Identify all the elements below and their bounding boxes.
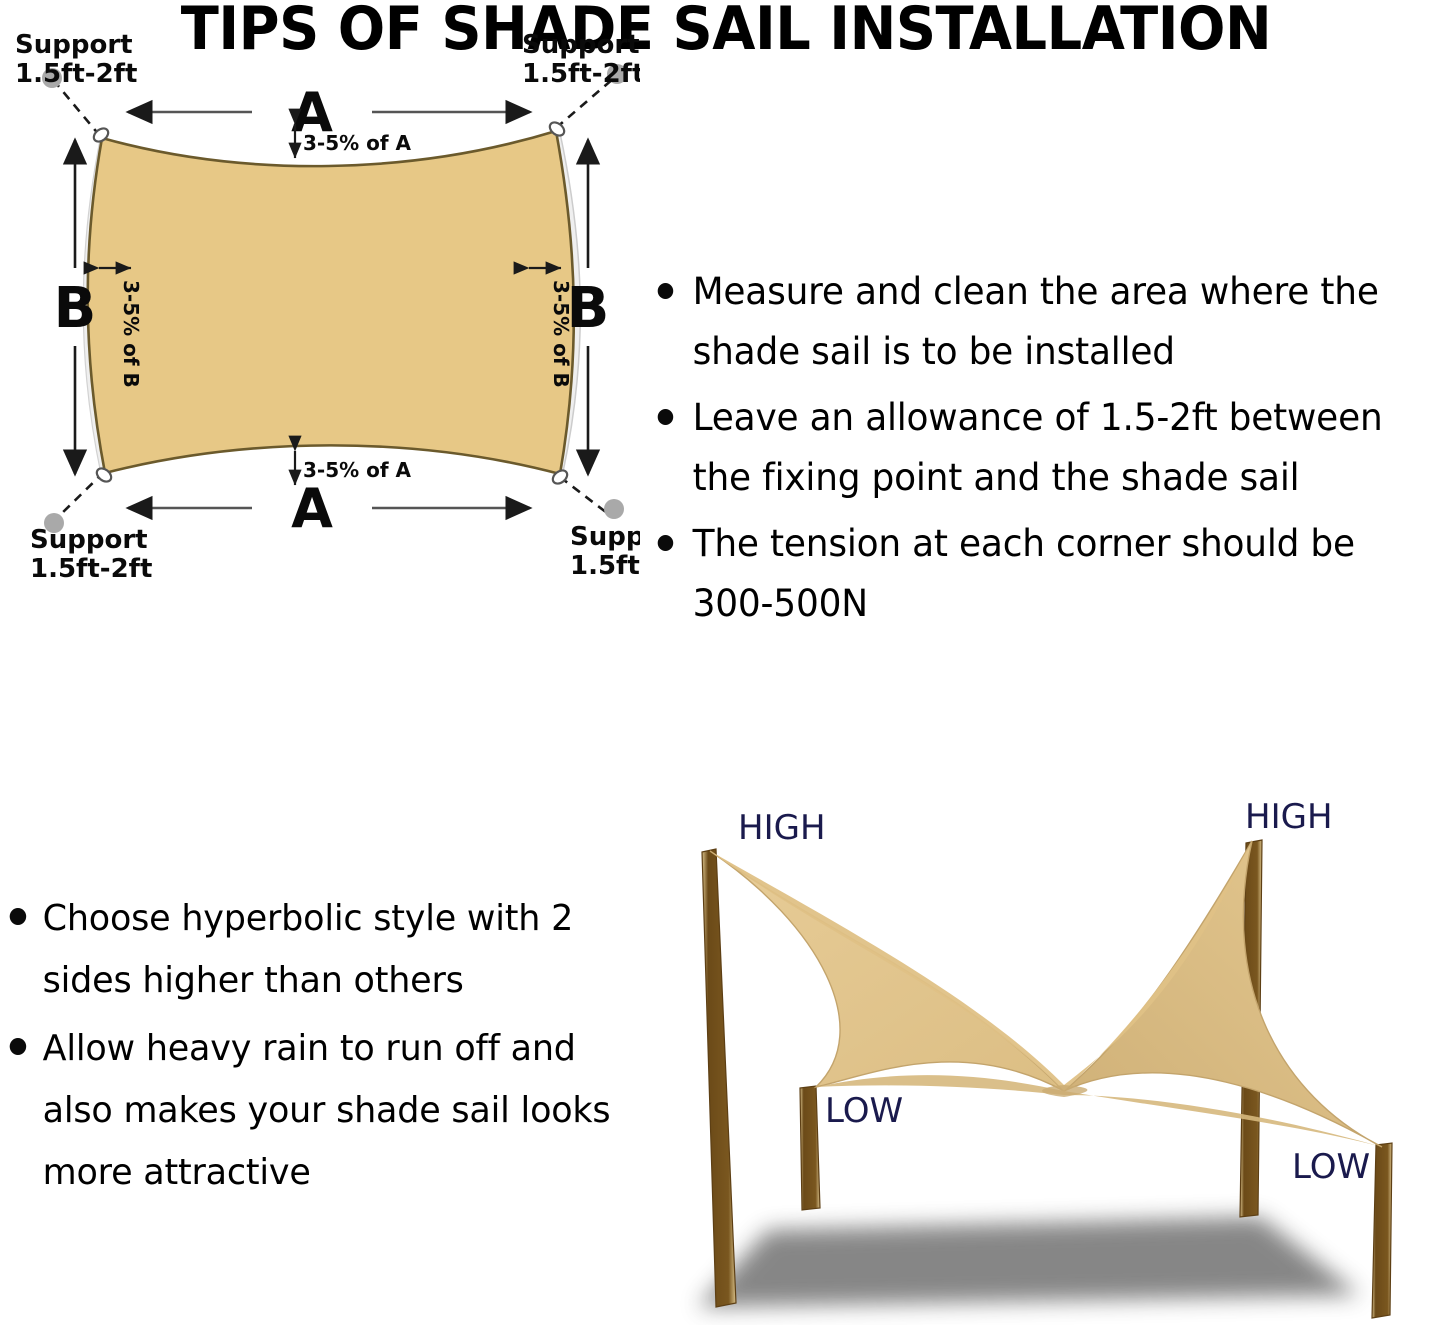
- post-low-right: [1372, 1143, 1392, 1318]
- rectangular-sail-diagram: A A B B 3-5% of A 3-5% of A: [0, 0, 640, 600]
- hyperbolic-sail-svg: HIGH HIGH LOW LOW: [660, 795, 1452, 1325]
- rect-sail-svg: A A B B 3-5% of A 3-5% of A: [0, 0, 640, 600]
- support-label-top-left: Support 1.5ft-2ft: [15, 30, 137, 89]
- dimension-label-bottom-a: A: [291, 477, 333, 540]
- tips-bullet-list: Measure and clean the area where the sha…: [648, 262, 1452, 634]
- list-item: Leave an allowance of 1.5-2ft between th…: [648, 388, 1428, 508]
- list-item: Allow heavy rain to run off and also mak…: [0, 1018, 621, 1204]
- label-low-right: LOW: [1292, 1147, 1370, 1187]
- curvature-callout-bottom: 3-5% of A: [295, 451, 412, 485]
- curvature-label-top: 3-5% of A: [303, 131, 412, 155]
- hyperbolic-style-tips-list: Choose hyperbolic style with 2 sides hig…: [0, 888, 640, 1218]
- sail-shape: [88, 131, 574, 474]
- curvature-label-right: 3-5% of B: [549, 280, 573, 388]
- hyperbolic-sail-diagram: HIGH HIGH LOW LOW: [660, 795, 1452, 1325]
- curvature-label-bottom: 3-5% of A: [303, 458, 412, 482]
- support-label-top-left-line2: 1.5ft-2ft: [15, 59, 137, 89]
- installation-tips-list: Measure and clean the area where the sha…: [648, 262, 1452, 682]
- post-low-left: [800, 1086, 820, 1210]
- dimension-label-left-b: B: [54, 276, 97, 341]
- anchor-dot-bottom-right: [604, 499, 624, 519]
- label-high-left: HIGH: [738, 808, 826, 848]
- support-label-bottom-right-line1: Support: [570, 522, 640, 552]
- support-label-bottom-left-line1: Support: [30, 525, 148, 555]
- ground-shadow: [698, 1217, 1360, 1307]
- list-item: Measure and clean the area where the sha…: [648, 262, 1428, 382]
- support-label-top-right-line1: Support: [522, 30, 640, 60]
- list-item: Choose hyperbolic style with 2 sides hig…: [0, 888, 621, 1012]
- post-high-left: [702, 849, 736, 1307]
- label-low-left: LOW: [825, 1091, 903, 1131]
- support-label-bottom-right-line2: 1.5ft-2ft: [570, 551, 640, 581]
- curvature-label-left: 3-5% of B: [119, 280, 143, 388]
- support-label-bottom-left-line2: 1.5ft-2ft: [30, 554, 152, 584]
- support-label-top-left-line1: Support: [15, 30, 133, 60]
- support-label-bottom-right: Support 1.5ft-2ft: [570, 522, 640, 581]
- list-item: The tension at each corner should be 300…: [648, 514, 1428, 634]
- support-label-top-right-line2: 1.5ft-2ft: [522, 59, 640, 89]
- style-bullet-list: Choose hyperbolic style with 2 sides hig…: [0, 888, 640, 1204]
- support-label-top-right: Support 1.5ft-2ft: [522, 30, 640, 89]
- label-high-right: HIGH: [1245, 797, 1333, 837]
- sail-lobe-right: [1064, 841, 1382, 1147]
- support-label-bottom-left: Support 1.5ft-2ft: [30, 525, 152, 584]
